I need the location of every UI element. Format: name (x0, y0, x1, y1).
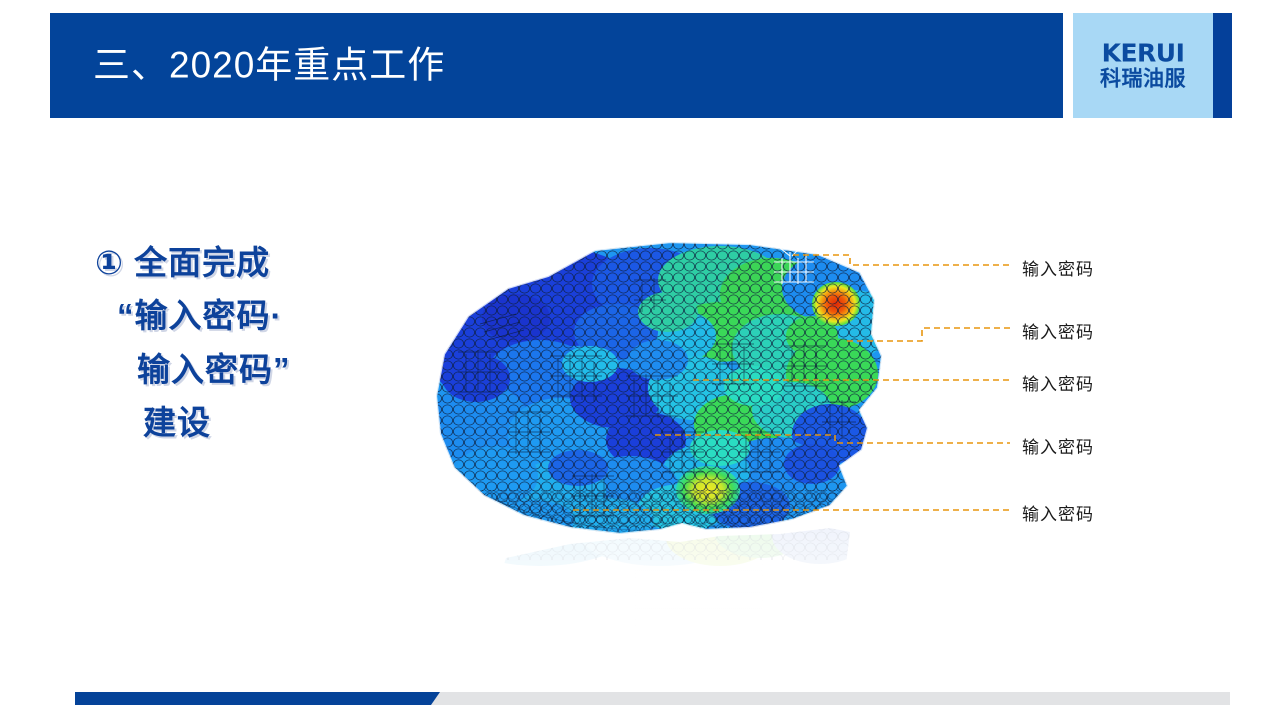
logo-accent-bar (1213, 13, 1232, 118)
bullet-line-4: 建设 (95, 396, 395, 449)
bullet-text-block: ① 全面完成 “输入密码· 输入密码” 建设 (95, 236, 395, 450)
callout-label-3: 输入密码 (1022, 370, 1094, 395)
callout-label-5: 输入密码 (1022, 500, 1094, 525)
bullet-line-3: 输入密码” (95, 343, 395, 396)
logo-text-wrap: KERUI 科瑞油服 (1073, 40, 1213, 91)
callout-label-4: 输入密码 (1022, 433, 1094, 458)
slide-progress-fill (75, 692, 440, 705)
logo-panel: KERUI 科瑞油服 (1073, 13, 1213, 118)
logo-latin-text: KERUI (1073, 40, 1213, 66)
reservoir-mesh-figure (420, 228, 900, 658)
bullet-line-2: “输入密码· (95, 289, 395, 342)
mesh-body (420, 228, 900, 558)
callout-label-2: 输入密码 (1022, 318, 1094, 343)
slide-progress-track (75, 692, 1230, 705)
logo-chinese-text: 科瑞油服 (1073, 67, 1213, 91)
header-banner: 三、2020年重点工作 (50, 13, 1063, 118)
callout-label-1: 输入密码 (1022, 255, 1094, 280)
page-title: 三、2020年重点工作 (93, 45, 445, 86)
bullet-line-1: ① 全面完成 (95, 236, 395, 289)
